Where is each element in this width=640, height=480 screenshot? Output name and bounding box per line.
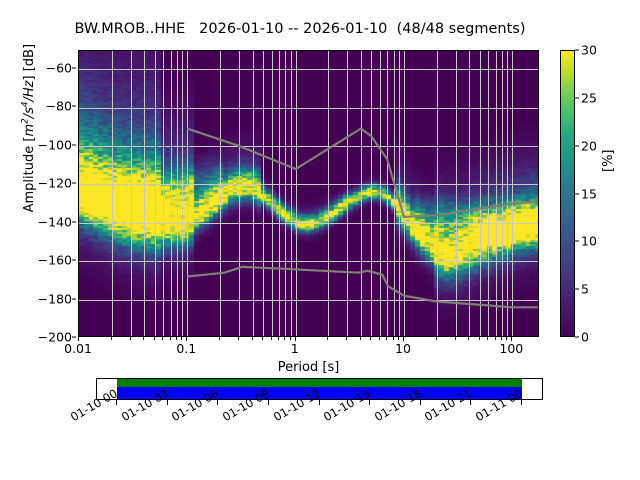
x-tick-mark [262, 337, 263, 340]
timeline-tick-mark [521, 400, 522, 405]
x-tick-mark [252, 337, 253, 340]
x-tick-mark [360, 337, 361, 340]
timeline-data-bar [117, 379, 522, 387]
y-tick-mark [72, 145, 76, 146]
x-tick-mark [455, 337, 456, 340]
colorbar-tick-label: 20 [581, 138, 597, 153]
noise-model-curves [79, 51, 539, 337]
y-axis-label: Amplitude [m2/s4/Hz] [dB] [21, 0, 37, 278]
colorbar-tick-label: 5 [581, 282, 589, 297]
x-tick-label: 0.01 [64, 341, 92, 356]
timeline-tick-mark [268, 400, 269, 405]
y-tick-mark [72, 106, 76, 107]
x-tick-mark [111, 337, 112, 340]
x-tick-label: 0.1 [176, 341, 196, 356]
x-tick-mark [176, 337, 177, 340]
y-tick-mark [72, 68, 76, 69]
x-tick-mark [290, 337, 291, 340]
low-noise-model-curve [187, 129, 539, 217]
x-tick-mark [327, 337, 328, 340]
timeline-tick-mark [319, 400, 320, 405]
ppsd-plot-area[interactable] [78, 50, 539, 337]
x-tick-mark [393, 337, 394, 340]
x-tick-mark [162, 337, 163, 340]
x-tick-mark [170, 337, 171, 340]
x-tick-mark [219, 337, 220, 340]
x-axis-label: Period [s] [78, 360, 539, 375]
y-tick-label: −160 [38, 253, 72, 268]
y-tick-mark [72, 299, 76, 300]
y-tick-mark [72, 337, 76, 338]
y-tick-label: −120 [38, 176, 72, 191]
high-noise-model-curve [187, 267, 539, 307]
x-tick-mark [271, 337, 272, 340]
colorbar-tick-label: 10 [581, 234, 597, 249]
colorbar-tick-mark [575, 289, 579, 290]
colorbar-tick-mark [575, 50, 579, 51]
x-tick-mark [143, 337, 144, 340]
colorbar-tick-mark [575, 145, 579, 146]
x-tick-mark [436, 337, 437, 340]
colorbar-tick-mark [575, 241, 579, 242]
y-tick-mark [72, 260, 76, 261]
y-tick-label: −180 [38, 292, 72, 307]
colorbar-tick-mark [575, 97, 579, 98]
timeline-tick-mark [116, 400, 117, 405]
x-tick-mark [506, 337, 507, 340]
x-tick-mark [495, 337, 496, 340]
colorbar-tick-mark [575, 193, 579, 194]
x-tick-mark [370, 337, 371, 340]
x-tick-mark [379, 337, 380, 340]
x-tick-mark [501, 337, 502, 340]
timeline-tick-label: 01-10 00 [68, 386, 120, 424]
x-tick-mark [468, 337, 469, 340]
y-tick-mark [72, 222, 76, 223]
timeline-tick-mark [420, 400, 421, 405]
x-tick-mark [346, 337, 347, 340]
timeline-tick-mark [470, 400, 471, 405]
x-tick-mark [278, 337, 279, 340]
x-tick-mark [238, 337, 239, 340]
colorbar-tick-label: 15 [581, 186, 597, 201]
timeline-tick-mark [369, 400, 370, 405]
y-tick-label: −140 [38, 215, 72, 230]
x-tick-mark [181, 337, 182, 340]
y-tick-label: −80 [46, 99, 72, 114]
x-tick-mark [398, 337, 399, 340]
timeline-tick-mark [167, 400, 168, 405]
x-tick-label: 10 [395, 341, 411, 356]
x-tick-label: 100 [499, 341, 523, 356]
x-tick-mark [386, 337, 387, 340]
colorbar-tick-label: 25 [581, 90, 597, 105]
colorbar-label: [%] [601, 150, 616, 173]
colorbar-tick-label: 30 [581, 43, 597, 58]
x-tick-mark [154, 337, 155, 340]
y-tick-label: −60 [46, 61, 72, 76]
x-tick-mark [479, 337, 480, 340]
x-tick-mark [130, 337, 131, 340]
y-tick-label: −100 [38, 138, 72, 153]
x-tick-mark [284, 337, 285, 340]
x-tick-mark [487, 337, 488, 340]
timeline-tick-mark [217, 400, 218, 405]
colorbar[interactable] [560, 50, 575, 337]
x-tick-label: 1 [291, 341, 299, 356]
colorbar-tick-label: 0 [581, 330, 589, 345]
colorbar-tick-mark [575, 337, 579, 338]
y-tick-mark [72, 183, 76, 184]
page-title: BW.MROB..HHE 2026-01-10 -- 2026-01-10 (4… [0, 21, 600, 37]
